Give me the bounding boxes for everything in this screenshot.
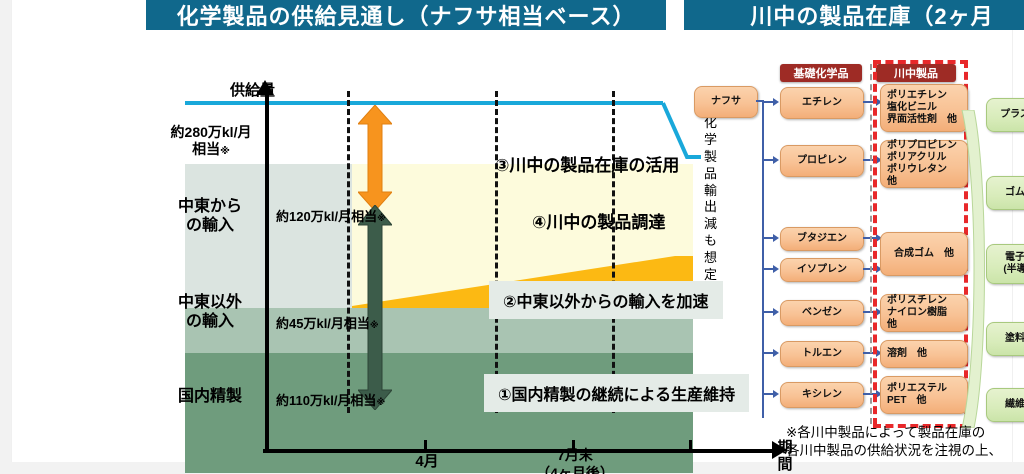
value-non-middle-east: 約45万kl/月相当※ [276, 313, 379, 332]
node-ethylene-derivatives-label: ポリエチレン 塩化ビニル 界面活性剤 他 [881, 90, 967, 127]
node-downstream-paint: 塗料 [986, 322, 1024, 356]
node-downstream-paint-label: 塗料 [987, 333, 1024, 345]
node-naphtha: ナフサ [694, 86, 758, 118]
node-isoprene-label: イソプレン [781, 264, 863, 276]
header-midstream-products: 川中製品 [876, 64, 956, 82]
slide: 化学製品の供給見通し（ナフサ相当ベース） 川中の製品在庫（2ヶ月 [0, 0, 1024, 474]
naphtha-out-line [756, 100, 764, 102]
node-downstream-rubber-label: ゴム [987, 187, 1024, 199]
value-chain-flow-diagram: 基礎化学品 川中製品 ナフサ エチレン プロピレン ブタジエン イソプレン ベン… [690, 36, 1024, 474]
title-bar-right: 川中の製品在庫（2ヶ月 [684, 0, 1024, 30]
y-axis-label: 供給量 [230, 82, 275, 100]
node-xylene-derivatives-label: ポリエステル PET 他 [881, 383, 967, 407]
node-propylene-derivatives: ポリプロピレン ポリアクリル ポリウレタン 他 [880, 140, 968, 188]
top-value-mark: ※ [220, 146, 230, 157]
node-downstream-plastics-label: プラス [987, 109, 1024, 121]
naphtha-trunk-line [762, 100, 764, 418]
header-basic-chemicals: 基礎化学品 [780, 64, 862, 82]
x-label-july: 7月末 （4ヶ月後） [520, 447, 630, 474]
node-ethylene-label: エチレン [781, 97, 863, 109]
top-value-label: 約280万kl/月 相当※ [156, 124, 266, 157]
node-ethylene: エチレン [780, 87, 864, 119]
node-downstream-fiber-label: 繊維 [987, 399, 1024, 411]
x-label-july-line1: 7月末 [557, 447, 593, 463]
x-tick-april [424, 440, 427, 450]
value-middle-east: 約120万kl/月相当※ [276, 206, 386, 225]
x-label-april: 4月 [396, 450, 458, 471]
node-benzene: ベンゼン [780, 300, 864, 326]
node-xylene-label: キシレン [781, 389, 863, 401]
node-benzene-derivatives-label: ポリスチレン ナイロン樹脂 他 [881, 295, 967, 332]
node-ethylene-derivatives: ポリエチレン 塩化ビニル 界面活性剤 他 [880, 84, 968, 132]
title-left-text: 化学製品の供給見通し（ナフサ相当ベース） [177, 0, 636, 31]
node-xylene-derivatives: ポリエステル PET 他 [880, 376, 968, 414]
callout-2-import-accel: ②中東以外からの輸入を加速 [489, 281, 723, 319]
category-label-domestic: 国内精製 [158, 388, 262, 407]
value-nonme-mark: ※ [370, 320, 379, 330]
value-me-text: 約120万kl/月相当 [276, 209, 377, 224]
arrow-inventory-gap [358, 105, 392, 211]
category-dom-line1: 国内精製 [178, 388, 242, 405]
callout-3-inventory: ③川中の製品在庫の活用 [495, 151, 679, 176]
node-isoprene: イソプレン [780, 258, 864, 282]
node-downstream-electronics: 電子 (半導 [986, 244, 1024, 284]
x-label-july-line2: （4ヶ月後） [536, 465, 614, 474]
node-solvent: 溶剤 他 [880, 340, 968, 368]
highlight-box-left [873, 60, 877, 426]
node-solvent-label: 溶剤 他 [881, 348, 967, 360]
value-dom-text: 約110万kl/月相当 [276, 393, 376, 408]
node-benzene-label: ベンゼン [781, 307, 863, 319]
node-toluene: トルエン [780, 341, 864, 367]
category-me-line2: の輸入 [186, 217, 234, 234]
node-butadiene: ブタジエン [780, 227, 864, 251]
supply-line-top [185, 101, 663, 105]
node-propylene-derivatives-label: ポリプロピレン ポリアクリル ポリウレタン 他 [881, 140, 967, 189]
vline-july [612, 91, 615, 413]
arrow-domestic-supply [358, 205, 392, 410]
separator-dashed-gray [870, 64, 872, 424]
node-synthetic-rubber: 合成ゴム 他 [880, 232, 968, 276]
node-synthetic-rubber-label: 合成ゴム 他 [881, 248, 967, 260]
top-value-line1: 約280万kl/月 [171, 124, 252, 140]
node-downstream-fiber: 繊維 [986, 388, 1024, 422]
category-label-middle-east: 中東から の輸入 [158, 198, 262, 236]
highlight-box-top [873, 60, 968, 64]
vline-mid [495, 91, 498, 413]
node-benzene-derivatives: ポリスチレン ナイロン樹脂 他 [880, 294, 968, 332]
node-downstream-electronics-label: 電子 (半導 [987, 252, 1024, 276]
category-nonme-line1: 中東以外 [178, 294, 242, 311]
node-naphtha-label: ナフサ [695, 96, 757, 108]
flow-footnote: ※各川中製品によって製品在庫の 各川中製品の供給状況を注視の上、 [786, 424, 1002, 460]
supply-outlook-chart: 供給量 約280万kl/月 相当※ 中東から の輸入 中東以外 の輸入 国内精製… [80, 38, 720, 458]
category-nonme-line2: の輸入 [186, 313, 234, 330]
value-nonme-text: 約45万kl/月相当 [276, 316, 370, 331]
node-propylene: プロピレン [780, 145, 864, 177]
flow-footnote-line1: ※各川中製品によって製品在庫の [786, 425, 985, 440]
node-downstream-rubber: ゴム [986, 176, 1024, 210]
category-label-non-middle-east: 中東以外 の輸入 [158, 294, 262, 332]
title-bar-left: 化学製品の供給見通し（ナフサ相当ベース） [146, 0, 666, 30]
value-domestic: 約110万kl/月相当※ [276, 390, 385, 409]
category-me-line1: 中東から [178, 198, 242, 215]
node-butadiene-label: ブタジエン [781, 233, 863, 245]
node-xylene: キシレン [780, 382, 864, 408]
node-toluene-label: トルエン [781, 348, 863, 360]
node-propylene-label: プロピレン [781, 155, 863, 167]
node-downstream-plastics: プラス [986, 98, 1024, 132]
top-value-line2: 相当 [192, 141, 220, 157]
callout-4-procurement: ④川中の製品調達 [532, 208, 665, 233]
vline-april [347, 91, 350, 413]
value-dom-mark: ※ [376, 397, 385, 407]
flow-footnote-line2: 各川中製品の供給状況を注視の上、 [786, 443, 1002, 458]
title-right-text: 川中の製品在庫（2ヶ月 [750, 0, 993, 31]
value-me-mark: ※ [377, 213, 386, 223]
